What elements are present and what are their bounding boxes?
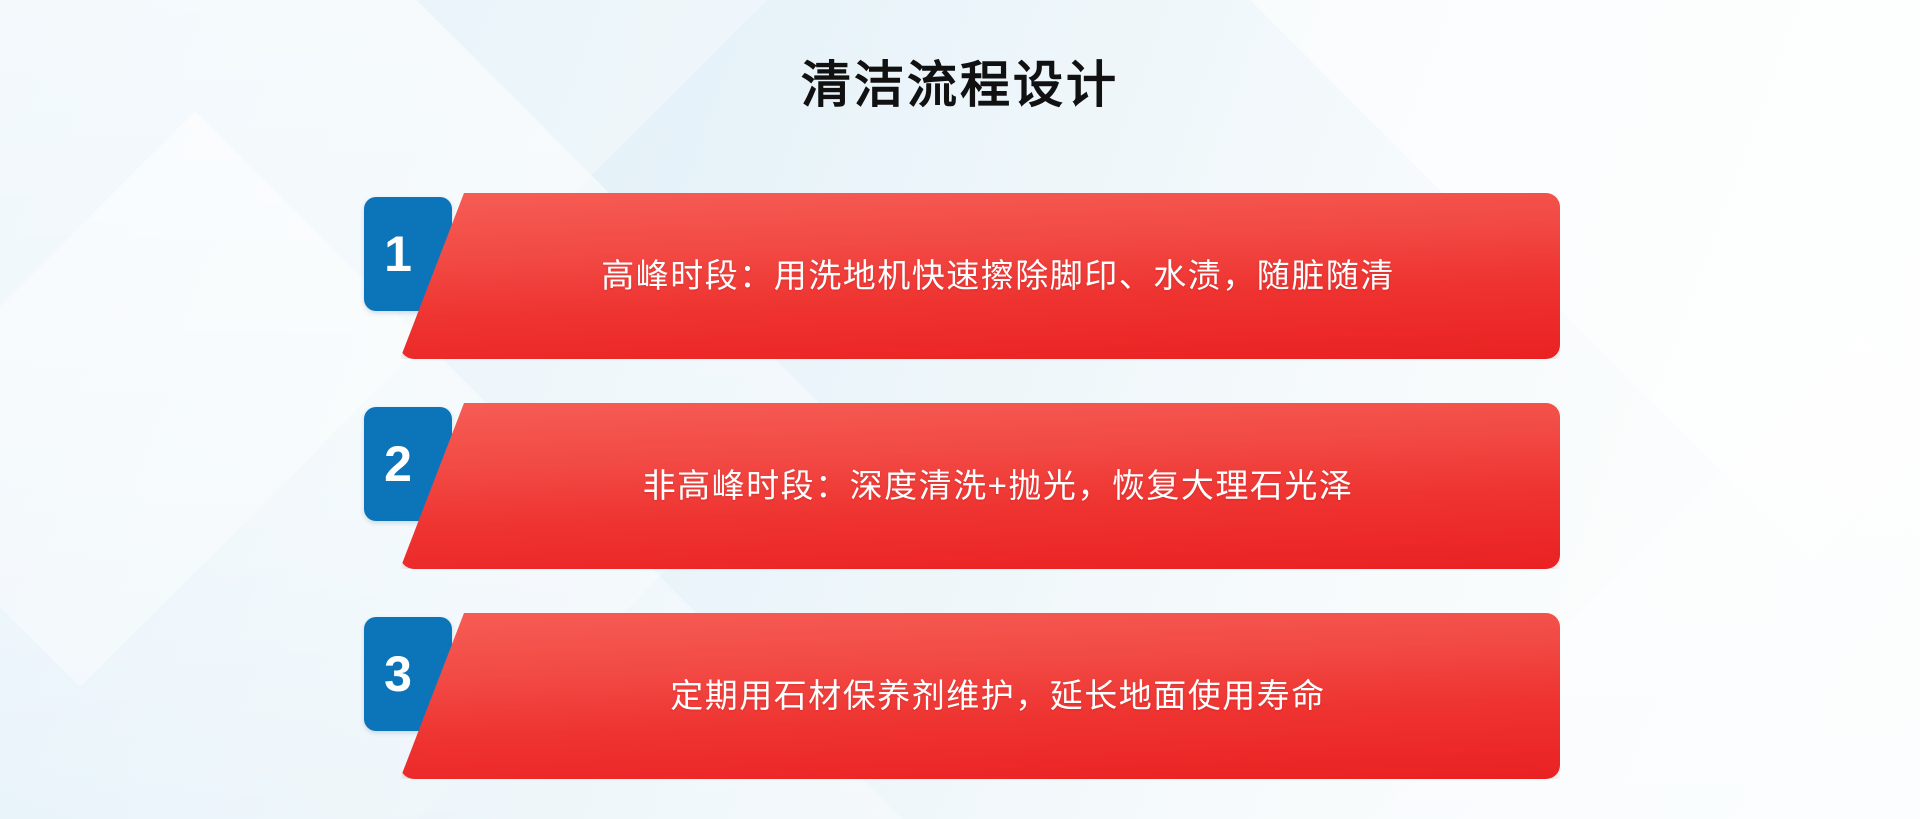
process-step-list: 1 高峰时段：用洗地机快速擦除脚印、水渍，随脏随清 2 非高峰时段：深度清洗+抛… (0, 193, 1920, 779)
step-description-text: 非高峰时段：深度清洗+抛光，恢复大理石光泽 (567, 465, 1394, 508)
step-number-label: 2 (364, 407, 426, 521)
step-description-text: 高峰时段：用洗地机快速擦除脚印、水渍，随脏随清 (525, 255, 1435, 298)
page-title: 清洁流程设计 (0, 54, 1920, 117)
step-content-bar[interactable]: 定期用石材保养剂维护，延长地面使用寿命 (400, 613, 1560, 779)
step-description-text: 定期用石材保养剂维护，延长地面使用寿命 (594, 675, 1366, 718)
process-step-row: 2 非高峰时段：深度清洗+抛光，恢复大理石光泽 (0, 403, 1920, 569)
step-number-label: 3 (364, 617, 426, 731)
step-number-label: 1 (364, 197, 426, 311)
process-step-row: 3 定期用石材保养剂维护，延长地面使用寿命 (0, 613, 1920, 779)
process-step-row: 1 高峰时段：用洗地机快速擦除脚印、水渍，随脏随清 (0, 193, 1920, 359)
step-content-bar[interactable]: 非高峰时段：深度清洗+抛光，恢复大理石光泽 (400, 403, 1560, 569)
step-content-bar[interactable]: 高峰时段：用洗地机快速擦除脚印、水渍，随脏随清 (400, 193, 1560, 359)
slide-canvas: 清洁流程设计 1 高峰时段：用洗地机快速擦除脚印、水渍，随脏随清 2 非高峰时段… (0, 0, 1920, 819)
